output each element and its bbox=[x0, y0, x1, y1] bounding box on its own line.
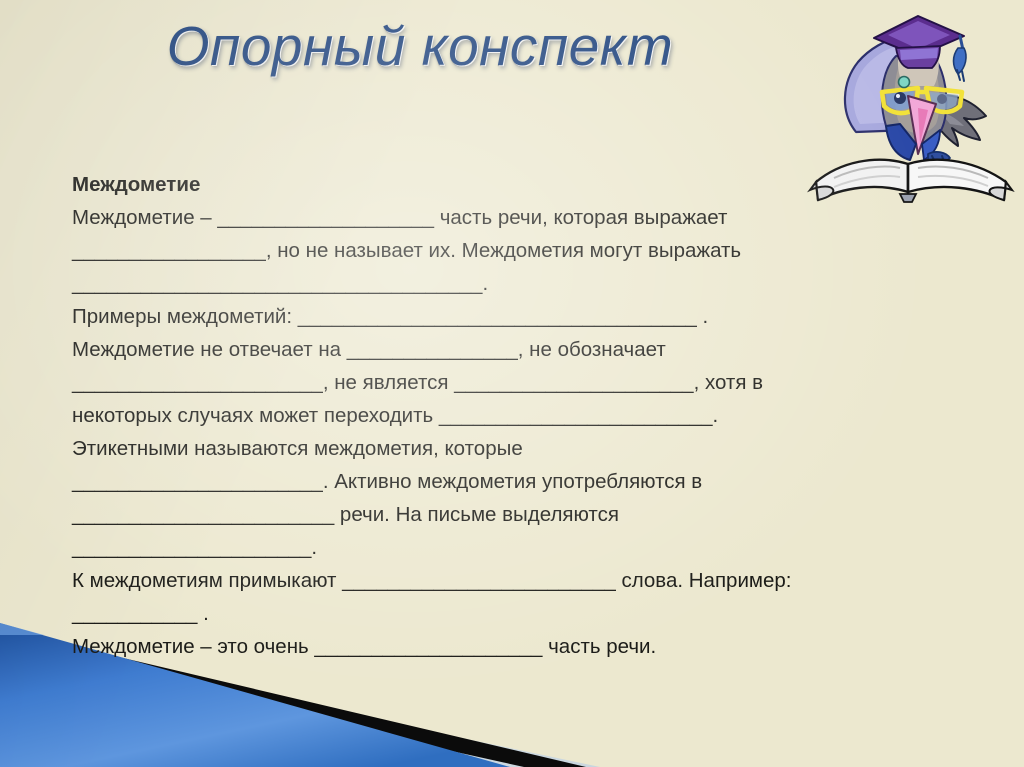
notes-body: Междометие Междометие – ________________… bbox=[72, 168, 952, 663]
notes-line: ______________________. Активно междомет… bbox=[72, 465, 952, 498]
notes-line: Примеры междометий: ____________________… bbox=[72, 300, 952, 333]
notes-line: Междометие – это очень _________________… bbox=[72, 630, 952, 663]
notes-line: К междометиям примыкают ________________… bbox=[72, 564, 952, 597]
notes-line: ____________________________________. bbox=[72, 267, 952, 300]
notes-line: _________________, но не называет их. Ме… bbox=[72, 234, 952, 267]
page-title: Опорный конспект bbox=[167, 14, 673, 78]
notes-line: ______________________, не является ____… bbox=[72, 366, 952, 399]
notes-line: некоторых случаях может переходить _____… bbox=[72, 399, 952, 432]
notes-line: ___________ . bbox=[72, 597, 952, 630]
notes-line: Междометие не отвечает на ______________… bbox=[72, 333, 952, 366]
slide-canvas: Опорный конспект bbox=[0, 0, 1024, 767]
notes-line: Междометие – ___________________ часть р… bbox=[72, 201, 952, 234]
notes-line: Этикетными называются междометия, которы… bbox=[72, 432, 952, 465]
notes-line: _____________________. bbox=[72, 531, 952, 564]
notes-line: _______________________ речи. На письме … bbox=[72, 498, 952, 531]
owl-icon bbox=[800, 4, 1024, 204]
slide-title-container: Опорный конспект bbox=[0, 14, 840, 78]
